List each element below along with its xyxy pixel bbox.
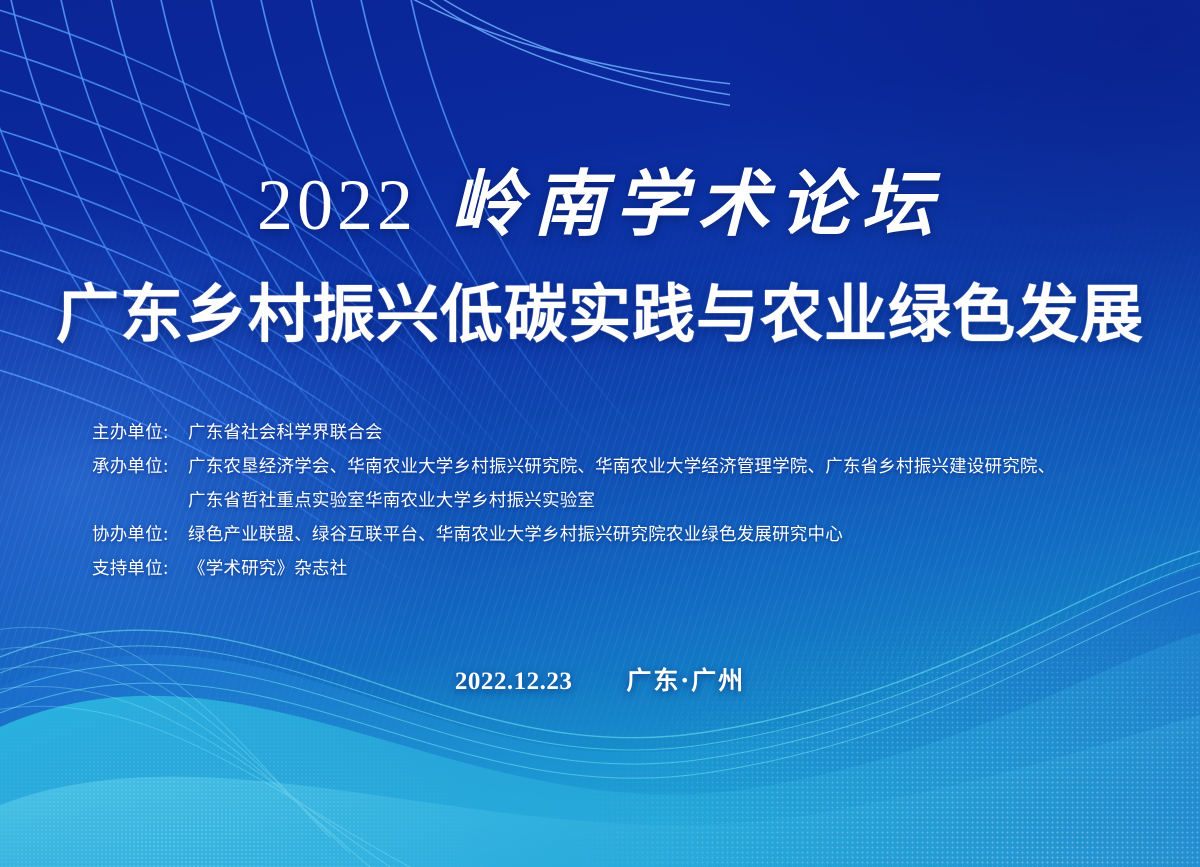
organizer-row-undertaker: 承办单位: 广东农垦经济学会、华南农业大学乡村振兴研究院、华南农业大学经济管理学… [92, 450, 1152, 484]
organizer-label-host: 主办单位: [92, 416, 188, 450]
organizer-label-undertaker: 承办单位: [92, 450, 188, 484]
organizer-label-supporter: 支持单位: [92, 552, 188, 586]
conference-poster: 2022岭南学术论坛 广东乡村振兴低碳实践与农业绿色发展 主办单位: 广东省社会… [0, 0, 1200, 867]
organizer-list: 主办单位: 广东省社会科学界联合会 承办单位: 广东农垦经济学会、华南农业大学乡… [92, 416, 1152, 586]
organizer-value-coorganizer: 绿色产业联盟、绿谷互联平台、华南农业大学乡村振兴研究院农业绿色发展研究中心 [188, 518, 1152, 552]
event-date: 2022.12.23 [455, 668, 573, 695]
organizer-value-undertaker-continued: 广东省哲社重点实验室华南农业大学乡村振兴实验室 [188, 484, 1152, 518]
organizer-value-undertaker: 广东农垦经济学会、华南农业大学乡村振兴研究院、华南农业大学经济管理学院、广东省乡… [188, 450, 1152, 484]
organizer-row-coorganizer: 协办单位: 绿色产业联盟、绿谷互联平台、华南农业大学乡村振兴研究院农业绿色发展研… [92, 518, 1152, 552]
event-footer: 2022.12.23广东·广州 [0, 664, 1200, 699]
organizer-value-supporter: 《学术研究》杂志社 [188, 552, 1152, 586]
organizer-row-host: 主办单位: 广东省社会科学界联合会 [92, 416, 1152, 450]
forum-title-year: 2022 [257, 165, 417, 245]
forum-title-name: 岭南学术论坛 [451, 161, 943, 246]
organizer-value-host: 广东省社会科学界联合会 [188, 416, 1152, 450]
forum-title: 2022岭南学术论坛 [0, 168, 1200, 241]
organizer-label-coorganizer: 协办单位: [92, 518, 188, 552]
event-location: 广东·广州 [626, 666, 745, 695]
page-title: 广东乡村振兴低碳实践与农业绿色发展 [0, 282, 1200, 349]
organizer-row-supporter: 支持单位: 《学术研究》杂志社 [92, 552, 1152, 586]
